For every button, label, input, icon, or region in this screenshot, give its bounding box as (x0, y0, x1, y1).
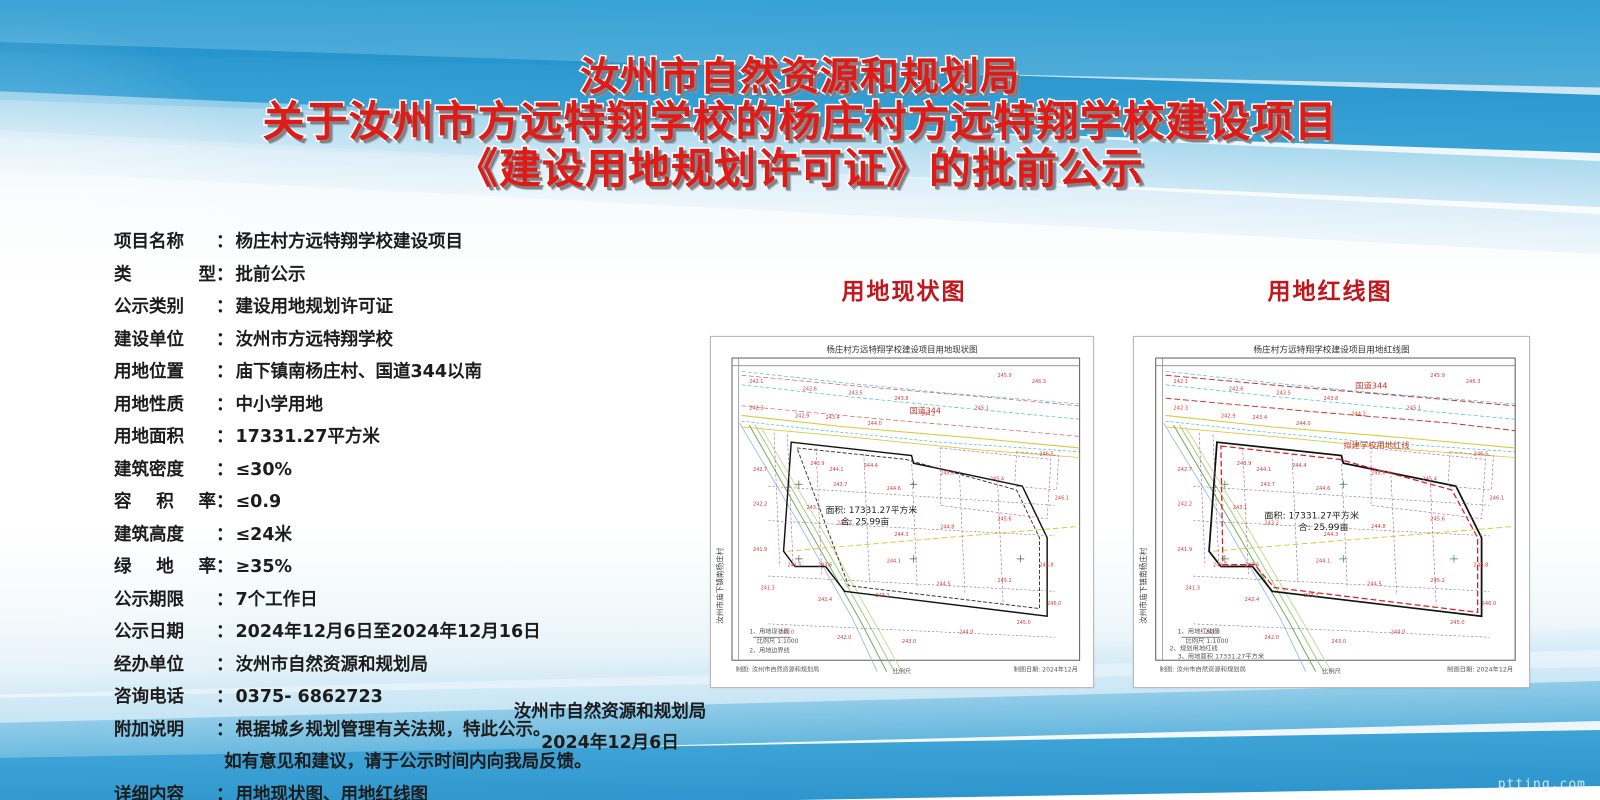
map-road-label: 国道344 (910, 405, 941, 415)
info-row-value: ≤30% (236, 460, 293, 480)
svg-text:244.0: 244.0 (959, 629, 973, 635)
map-area-label-1: 面积: 17331.27平方米 (826, 504, 918, 516)
map-legend-line-1: 1、用地红线图 (1177, 628, 1219, 636)
info-row-colon: ： (216, 456, 236, 481)
svg-text:241.3: 241.3 (761, 585, 775, 591)
svg-text:245.4: 245.4 (990, 476, 1004, 482)
info-row: 用地面积：17331.27平方米 (114, 423, 694, 448)
svg-text:242.9: 242.9 (1221, 413, 1236, 419)
svg-text:244.6: 244.6 (887, 486, 901, 492)
svg-text:243.7: 243.7 (1260, 482, 1275, 488)
map-title-red-line: 用地红线图 (1140, 272, 1520, 306)
svg-text:241.3: 241.3 (1185, 586, 1200, 592)
svg-text:243.1: 243.1 (1233, 505, 1248, 511)
info-row-value: 建设用地规划许可证 (236, 293, 394, 318)
map-legend-line-3: 2、规划用地红线 (1170, 645, 1218, 653)
info-row: 公示期限：7个工作日 (114, 586, 694, 611)
svg-text:243.5: 243.5 (849, 390, 863, 396)
announcement-poster: 汝州市自然资源和规划局 关于汝州市方远特翔学校的杨庄村方远特翔学校建设项目 《建… (0, 0, 1600, 800)
svg-text:245.8: 245.8 (1474, 563, 1489, 569)
info-row-label: 容积率 (114, 488, 216, 513)
info-row-colon: ： (216, 228, 236, 253)
svg-text:244.0: 244.0 (1391, 630, 1406, 636)
svg-text:245.6: 245.6 (998, 517, 1012, 523)
svg-text:245.9: 245.9 (1430, 373, 1445, 379)
info-row-colon: ： (216, 586, 236, 611)
svg-text:246.5: 246.5 (1040, 452, 1054, 458)
map-area-label-1: 面积: 17331.27平方米 (1264, 510, 1359, 522)
info-row-label: 公示类别 (114, 293, 216, 318)
info-row-value: 汝州市自然资源和规划局 (236, 651, 429, 676)
info-row-colon: ： (216, 391, 236, 416)
info-row: 公示类别：建设用地规划许可证 (114, 293, 694, 318)
map-footer-right: 制图日期: 2024年12月 (1014, 666, 1078, 674)
svg-text:246.3: 246.3 (1032, 379, 1046, 385)
svg-text:243.4: 243.4 (1253, 415, 1268, 421)
svg-text:245.0: 245.0 (1017, 620, 1031, 626)
info-row-label: 公示日期 (114, 618, 216, 643)
map-drawing-current-land-use: 杨庄村方远特翔学校建设项目用地现状图 汝州市庙下镇南杨庄村 (711, 337, 1093, 687)
map-area-label-2: 合: 25.99亩 (841, 515, 890, 527)
svg-text:243.8: 243.8 (1324, 396, 1339, 402)
svg-text:241.9: 241.9 (753, 547, 767, 553)
info-row-colon: ： (216, 521, 236, 546)
info-row-label: 公示期限 (114, 586, 216, 611)
svg-text:246.0: 246.0 (1482, 601, 1497, 607)
svg-text:245.6: 245.6 (1430, 517, 1445, 523)
info-row-colon: ： (216, 553, 236, 578)
map-footer-right: 制图日期: 2024年12月 (1447, 666, 1513, 674)
info-row-colon: ： (216, 261, 236, 286)
info-row-value: 庙下镇南杨庄村、国道344以南 (236, 358, 483, 383)
headline-line-3: 《建设用地规划许可证》的批前公示 (0, 148, 1600, 190)
info-row-value: 17331.27平方米 (236, 423, 380, 448)
svg-text:245.0: 245.0 (1450, 620, 1465, 626)
info-row-label: 用地性质 (114, 391, 216, 416)
svg-text:245.0: 245.0 (1371, 471, 1386, 477)
svg-text:246.5: 246.5 (1474, 452, 1489, 458)
info-row-label: 用地面积 (114, 423, 216, 448)
info-row-colon: ： (216, 423, 236, 448)
svg-text:244.4: 244.4 (1292, 463, 1307, 469)
info-row-label: 绿地率 (114, 553, 216, 578)
page-title: 汝州市自然资源和规划局 关于汝州市方远特翔学校的杨庄村方远特翔学校建设项目 《建… (0, 58, 1600, 190)
svg-text:246.3: 246.3 (1466, 379, 1481, 385)
svg-text:242.1: 242.1 (749, 379, 763, 385)
map-legend-line-4: 3、用地面积 17331.27平方米 (1177, 652, 1265, 660)
info-row: 建设单位：汝州市方远特翔学校 (114, 326, 694, 351)
map-drawing-red-line: 杨庄村方远特翔学校建设项目用地红线图 汝州市庙下镇南杨庄村 (1134, 337, 1529, 687)
svg-text:242.3: 242.3 (1174, 406, 1189, 412)
svg-text:243.6: 243.6 (1245, 563, 1260, 569)
map-footer-center: 比例尺 (893, 668, 911, 676)
svg-text:242.3: 242.3 (749, 406, 763, 412)
info-row-colon: ： (216, 358, 236, 383)
svg-text:242.9: 242.9 (795, 413, 809, 419)
svg-text:243.0: 243.0 (902, 639, 916, 645)
svg-text:244.1: 244.1 (1316, 559, 1331, 565)
info-row-colon: ： (216, 781, 236, 800)
info-row: 项目名称：杨庄村方远特翔学校建设项目 (114, 228, 694, 253)
headline-line-2: 关于汝州市方远特翔学校的杨庄村方远特翔学校建设项目 (0, 101, 1600, 143)
map-footer-left: 制图: 汝州市自然资源和规划局 (1160, 666, 1246, 674)
info-row-value: 汝州市方远特翔学校 (236, 326, 394, 351)
info-row: 公示日期：2024年12月6日至2024年12月16日 (114, 618, 694, 643)
info-row-colon: ： (216, 618, 236, 643)
svg-text:242.1: 242.1 (1174, 379, 1189, 385)
map-side-label: 汝州市庙下镇南杨庄村 (714, 547, 724, 624)
info-row-colon: ： (216, 293, 236, 318)
info-row-label: 经办单位 (114, 651, 216, 676)
info-row-label: 建筑密度 (114, 456, 216, 481)
map-area-label-2: 合: 25.99亩 (1299, 521, 1349, 533)
watermark: ptting.com (1498, 777, 1586, 792)
svg-text:242.0: 242.0 (837, 635, 851, 641)
map-road-label-1: 国道344 (1355, 381, 1387, 391)
map-legend-line-1: 1、用地现状图 (749, 627, 790, 635)
map-road-label-2: 拟建学校用地红线 (1343, 440, 1409, 450)
svg-text:243.8: 243.8 (894, 396, 908, 402)
info-row: 类型：批前公示 (114, 261, 694, 286)
info-row: 用地性质：中小学用地 (114, 391, 694, 416)
svg-text:245.1: 245.1 (1407, 406, 1422, 412)
svg-text:242.7: 242.7 (1177, 467, 1192, 473)
map-side-label: 汝州市庙下镇南杨庄村 (1138, 547, 1148, 624)
svg-text:242.2: 242.2 (753, 501, 767, 507)
info-row-colon: ： (216, 326, 236, 351)
svg-text:243.6: 243.6 (818, 563, 832, 569)
signature-org: 汝州市自然资源和规划局 (0, 698, 1600, 723)
svg-text:244.0: 244.0 (868, 421, 882, 427)
info-row-value: ≤0.9 (236, 492, 282, 512)
svg-text:245.0: 245.0 (940, 471, 954, 477)
info-row-value: ≥35% (236, 557, 293, 577)
info-row: 建筑密度：≤30% (114, 456, 694, 481)
svg-text:244.1: 244.1 (887, 559, 901, 565)
info-row-label: 建设单位 (114, 326, 216, 351)
svg-text:244.0: 244.0 (1296, 421, 1311, 427)
map-drawing-title: 杨庄村方远特翔学校建设项目用地现状图 (827, 344, 978, 354)
svg-text:243.9: 243.9 (1237, 461, 1252, 467)
svg-text:245.9: 245.9 (998, 373, 1012, 379)
svg-text:246.1: 246.1 (1490, 496, 1505, 502)
svg-text:244.8: 244.8 (1371, 524, 1386, 530)
info-row: 建筑高度：≤24米 (114, 521, 694, 546)
signature-date: 2024年12月6日 (0, 729, 1600, 754)
info-row-label: 项目名称 (114, 228, 216, 253)
signature-block: 汝州市自然资源和规划局 2024年12月6日 (0, 698, 1600, 760)
info-row-value: 用地现状图、用地红线图 (236, 781, 429, 800)
map-legend-line-2: 比例尺 1:1000 (757, 637, 799, 645)
info-row: 用地位置：庙下镇南杨庄村、国道344以南 (114, 358, 694, 383)
svg-text:243.9: 243.9 (810, 461, 824, 467)
svg-text:244.2: 244.2 (1351, 411, 1366, 417)
svg-text:242.7: 242.7 (753, 467, 767, 473)
svg-text:243.1: 243.1 (807, 505, 821, 511)
svg-text:242.4: 242.4 (1245, 597, 1260, 603)
svg-text:246.1: 246.1 (1055, 496, 1069, 502)
info-row-value: ≤24米 (236, 521, 293, 546)
info-row-colon: ： (216, 488, 236, 513)
svg-text:241.5: 241.5 (787, 563, 801, 569)
headline-line-1: 汝州市自然资源和规划局 (0, 58, 1600, 97)
svg-text:245.1: 245.1 (975, 406, 989, 412)
svg-text:242.4: 242.4 (818, 597, 832, 603)
svg-text:243.3: 243.3 (875, 593, 889, 599)
svg-text:245.2: 245.2 (998, 578, 1012, 584)
info-row-value: 杨庄村方远特翔学校建设项目 (236, 228, 464, 253)
info-row-label: 类型 (114, 261, 216, 286)
info-row: 详细内容：用地现状图、用地红线图 (114, 781, 694, 800)
svg-text:241.9: 241.9 (1177, 547, 1192, 553)
map-panel-red-line[interactable]: 杨庄村方远特翔学校建设项目用地红线图 汝州市庙下镇南杨庄村 (1133, 336, 1530, 688)
svg-text:242.6: 242.6 (803, 387, 817, 393)
info-row: 绿地率：≥35% (114, 553, 694, 578)
info-row-value: 中小学用地 (236, 391, 324, 416)
info-row-colon: ： (216, 651, 236, 676)
svg-text:246.0: 246.0 (1047, 601, 1061, 607)
svg-text:244.4: 244.4 (864, 463, 878, 469)
svg-text:244.1: 244.1 (829, 467, 843, 473)
svg-text:243.7: 243.7 (833, 482, 847, 488)
svg-text:243.3: 243.3 (1304, 593, 1319, 599)
info-row-value: 批前公示 (236, 261, 306, 286)
info-row: 容积率：≤0.9 (114, 488, 694, 513)
map-legend-line-3: 2、用地边界线 (749, 647, 790, 655)
svg-text:241.5: 241.5 (1213, 563, 1228, 569)
svg-text:244.3: 244.3 (894, 532, 908, 538)
info-row-label: 用地位置 (114, 358, 216, 383)
svg-text:245.8: 245.8 (1040, 563, 1054, 569)
map-footer-left: 制图: 汝州市自然资源和规划局 (736, 666, 819, 674)
svg-text:242.0: 242.0 (1264, 635, 1279, 641)
svg-text:244.5: 244.5 (1367, 582, 1382, 588)
map-footer-center: 比例尺 (1322, 668, 1341, 676)
info-row-value: 7个工作日 (236, 586, 318, 611)
svg-text:245.2: 245.2 (1430, 578, 1445, 584)
svg-text:244.8: 244.8 (940, 524, 954, 530)
map-drawing-title: 杨庄村方远特翔学校建设项目用地红线图 (1253, 343, 1409, 355)
svg-text:243.5: 243.5 (1276, 390, 1291, 396)
svg-text:244.1: 244.1 (1256, 467, 1271, 473)
info-row-label: 详细内容 (114, 781, 216, 800)
svg-text:244.6: 244.6 (1316, 486, 1331, 492)
map-legend-line-2: 比例尺 1:1000 (1185, 637, 1228, 645)
info-row: 经办单位：汝州市自然资源和规划局 (114, 651, 694, 676)
svg-text:243.0: 243.0 (1332, 639, 1347, 645)
info-row-label: 建筑高度 (114, 521, 216, 546)
svg-text:242.6: 242.6 (1229, 387, 1244, 393)
svg-text:242.2: 242.2 (1177, 501, 1192, 507)
map-title-current-land-use: 用地现状图 (714, 272, 1094, 306)
svg-text:243.4: 243.4 (826, 415, 840, 421)
svg-text:244.5: 244.5 (936, 582, 950, 588)
svg-text:245.4: 245.4 (1422, 477, 1437, 483)
info-row-value: 2024年12月6日至2024年12月16日 (236, 618, 541, 643)
map-panel-current-land-use[interactable]: 杨庄村方远特翔学校建设项目用地现状图 汝州市庙下镇南杨庄村 (710, 336, 1094, 688)
